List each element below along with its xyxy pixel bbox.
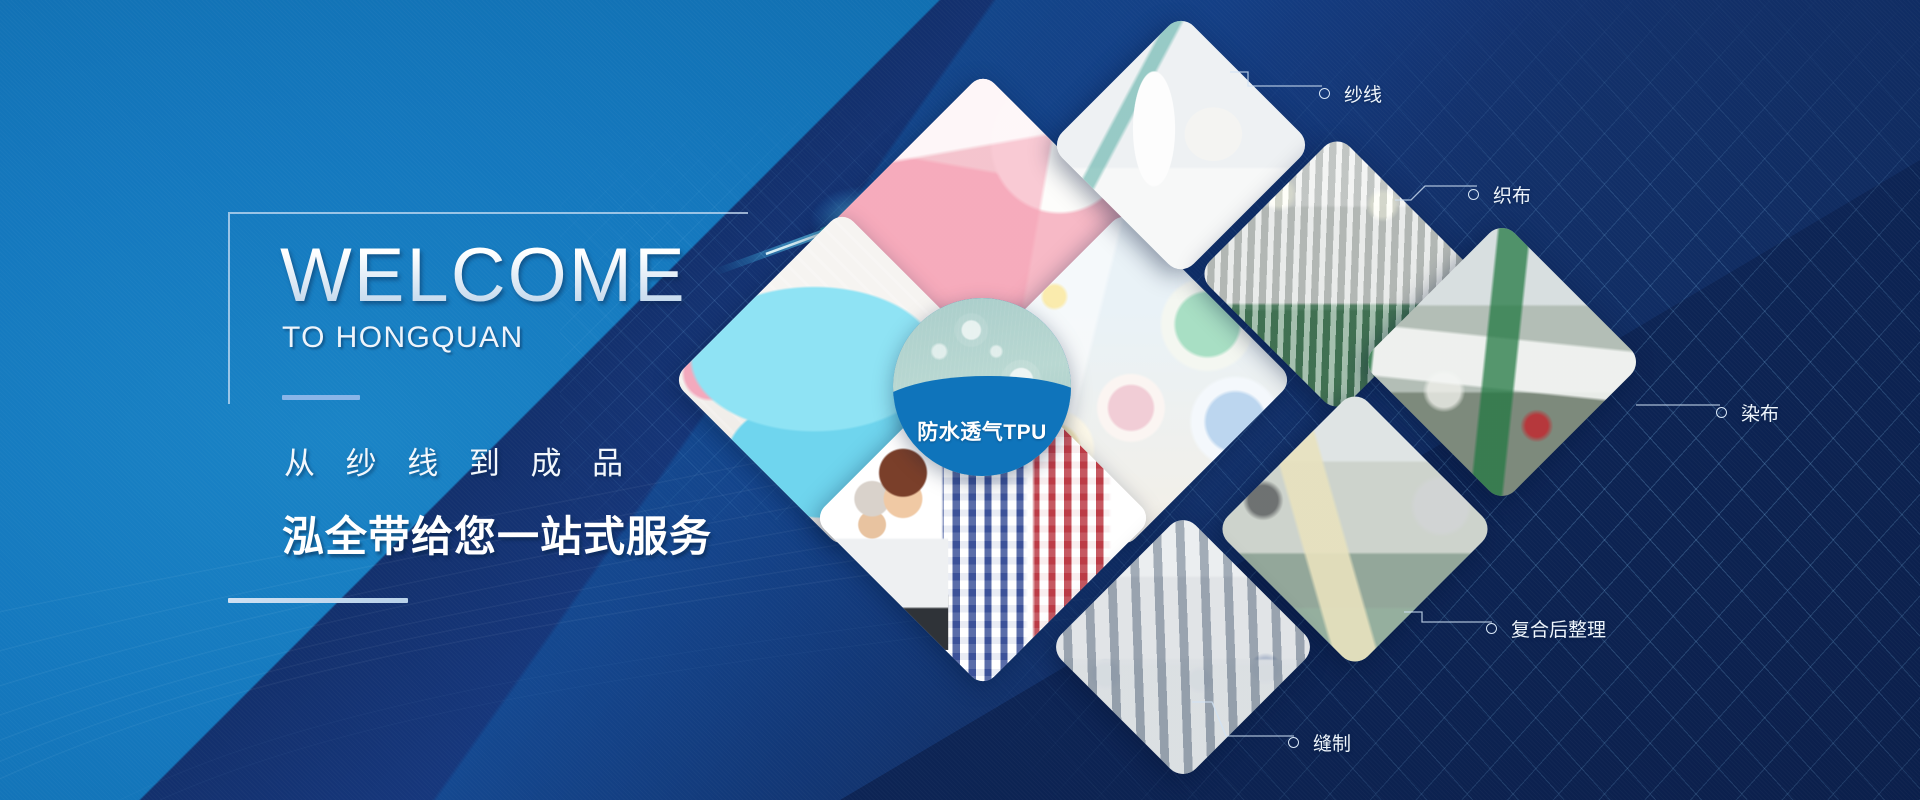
process-label-text: 复合后整理 [1511,615,1606,642]
connector-dot-icon [1716,407,1727,418]
page-title: WELCOME [280,196,788,313]
process-label-text: 纱线 [1344,80,1382,107]
process-label-composite[interactable]: 复合后整理 [1486,615,1606,642]
badge-label: 防水透气TPU [893,416,1071,446]
process-label-text: 织布 [1493,181,1531,208]
tagline-light: 从 纱 线 到 成 品 [284,438,788,483]
connector-dot-icon [1468,189,1479,200]
hero-banner: WELCOME TO HONGQUAN 从 纱 线 到 成 品 泓全带给您一站式… [0,0,1920,800]
connector-dot-icon [1319,88,1330,99]
process-label-weave[interactable]: 织布 [1468,181,1531,208]
bottom-divider [228,598,408,603]
process-label-text: 染布 [1741,399,1779,426]
tpu-feature-badge[interactable]: 防水透气TPU [893,298,1071,476]
tagline-bold: 泓全带给您一站式服务 [282,503,788,564]
connector-dot-icon [1486,623,1497,634]
process-label-text: 缝制 [1313,729,1351,756]
process-label-sewing[interactable]: 缝制 [1288,729,1351,756]
process-label-dye[interactable]: 染布 [1716,399,1779,426]
process-label-yarn[interactable]: 纱线 [1319,80,1382,107]
connector-dot-icon [1288,737,1299,748]
